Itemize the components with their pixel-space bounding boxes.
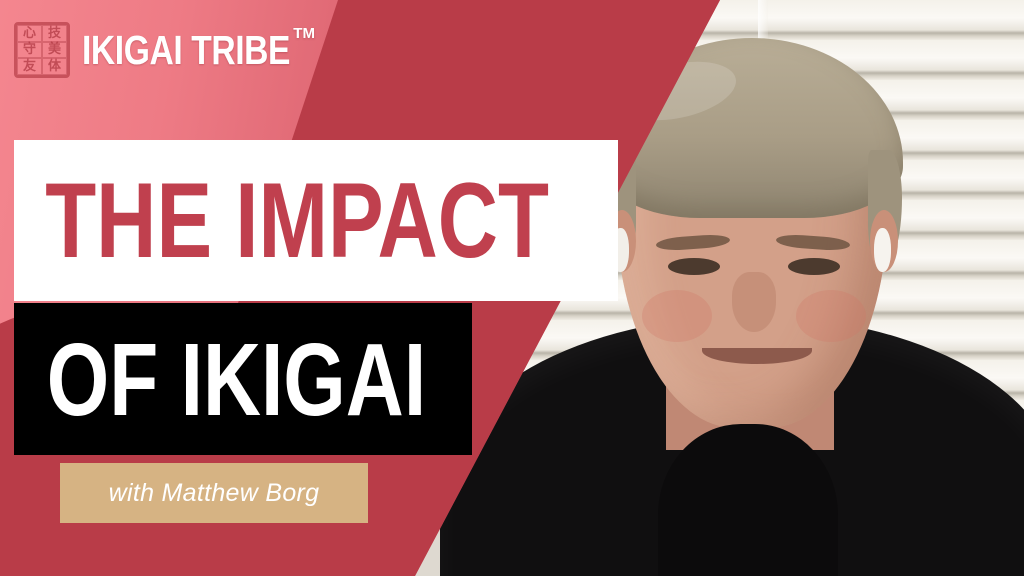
- seal-glyph: 心: [17, 25, 42, 42]
- title-line-2-block: OF IKIGAI: [14, 303, 472, 455]
- nose: [732, 272, 776, 332]
- seal-glyph: 守: [17, 42, 42, 59]
- subtitle-text: with Matthew Borg: [109, 479, 320, 508]
- title-line-1: THE IMPACT: [14, 167, 549, 274]
- ikigai-seal-stamp-icon: 心 技 守 美 友 体: [14, 22, 70, 78]
- subtitle-bar: with Matthew Borg: [60, 463, 368, 523]
- podcast-thumbnail: 心 技 守 美 友 体 IKIGAI TRIBETM THE IMPACT OF…: [0, 0, 1024, 576]
- brand-lockup: 心 技 守 美 友 体 IKIGAI TRIBETM: [14, 22, 336, 78]
- title-line-2: OF IKIGAI: [14, 328, 426, 431]
- seal-glyph: 美: [42, 42, 67, 59]
- title-line-1-block: THE IMPACT: [14, 140, 618, 301]
- seal-glyph: 技: [42, 25, 67, 42]
- seal-glyph: 友: [17, 58, 42, 75]
- earbud-icon-right: [874, 228, 891, 272]
- eye-left: [668, 258, 720, 275]
- cheek-left: [642, 290, 712, 342]
- seal-glyph: 体: [42, 58, 67, 75]
- trademark-symbol: TM: [290, 25, 315, 42]
- eye-right: [788, 258, 840, 275]
- cheek-right: [796, 290, 866, 342]
- brand-name: IKIGAI TRIBETM: [82, 27, 290, 74]
